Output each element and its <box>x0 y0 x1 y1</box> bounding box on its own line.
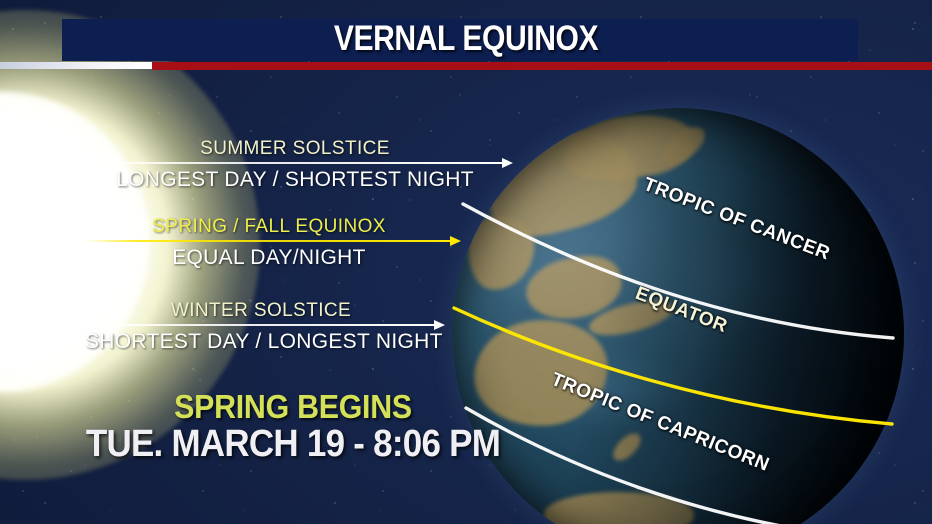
spring-fall-equinox-title: SPRING / FALL EQUINOX <box>85 216 453 238</box>
summer-solstice-arrow-line <box>85 162 505 164</box>
title-underline-red <box>152 62 932 70</box>
spring-fall-equinox-arrow-line <box>85 240 453 242</box>
winter-solstice-arrow-line <box>85 324 437 326</box>
page-title: VERNAL EQUINOX <box>65 19 867 59</box>
spring-begins-date: TUE. MARCH 19 - 8:06 PM <box>80 423 505 466</box>
title-underline-white <box>0 62 152 69</box>
globe-sphere <box>452 108 904 524</box>
spring-begins-headline: SPRING BEGINS <box>88 388 498 426</box>
winter-solstice-subtitle: SHORTEST DAY / LONGEST NIGHT <box>85 330 437 354</box>
spring-fall-equinox-subtitle: EQUAL DAY/NIGHT <box>85 246 453 270</box>
earth-globe <box>452 108 904 524</box>
summer-solstice-title: SUMMER SOLSTICE <box>90 138 500 160</box>
graphic-canvas: TROPIC OF CANCER EQUATOR TROPIC OF CAPRI… <box>0 0 932 524</box>
summer-solstice-subtitle: LONGEST DAY / SHORTEST NIGHT <box>85 168 505 192</box>
winter-solstice-title: WINTER SOLSTICE <box>85 300 437 322</box>
summer-solstice-arrow-head <box>502 158 513 168</box>
